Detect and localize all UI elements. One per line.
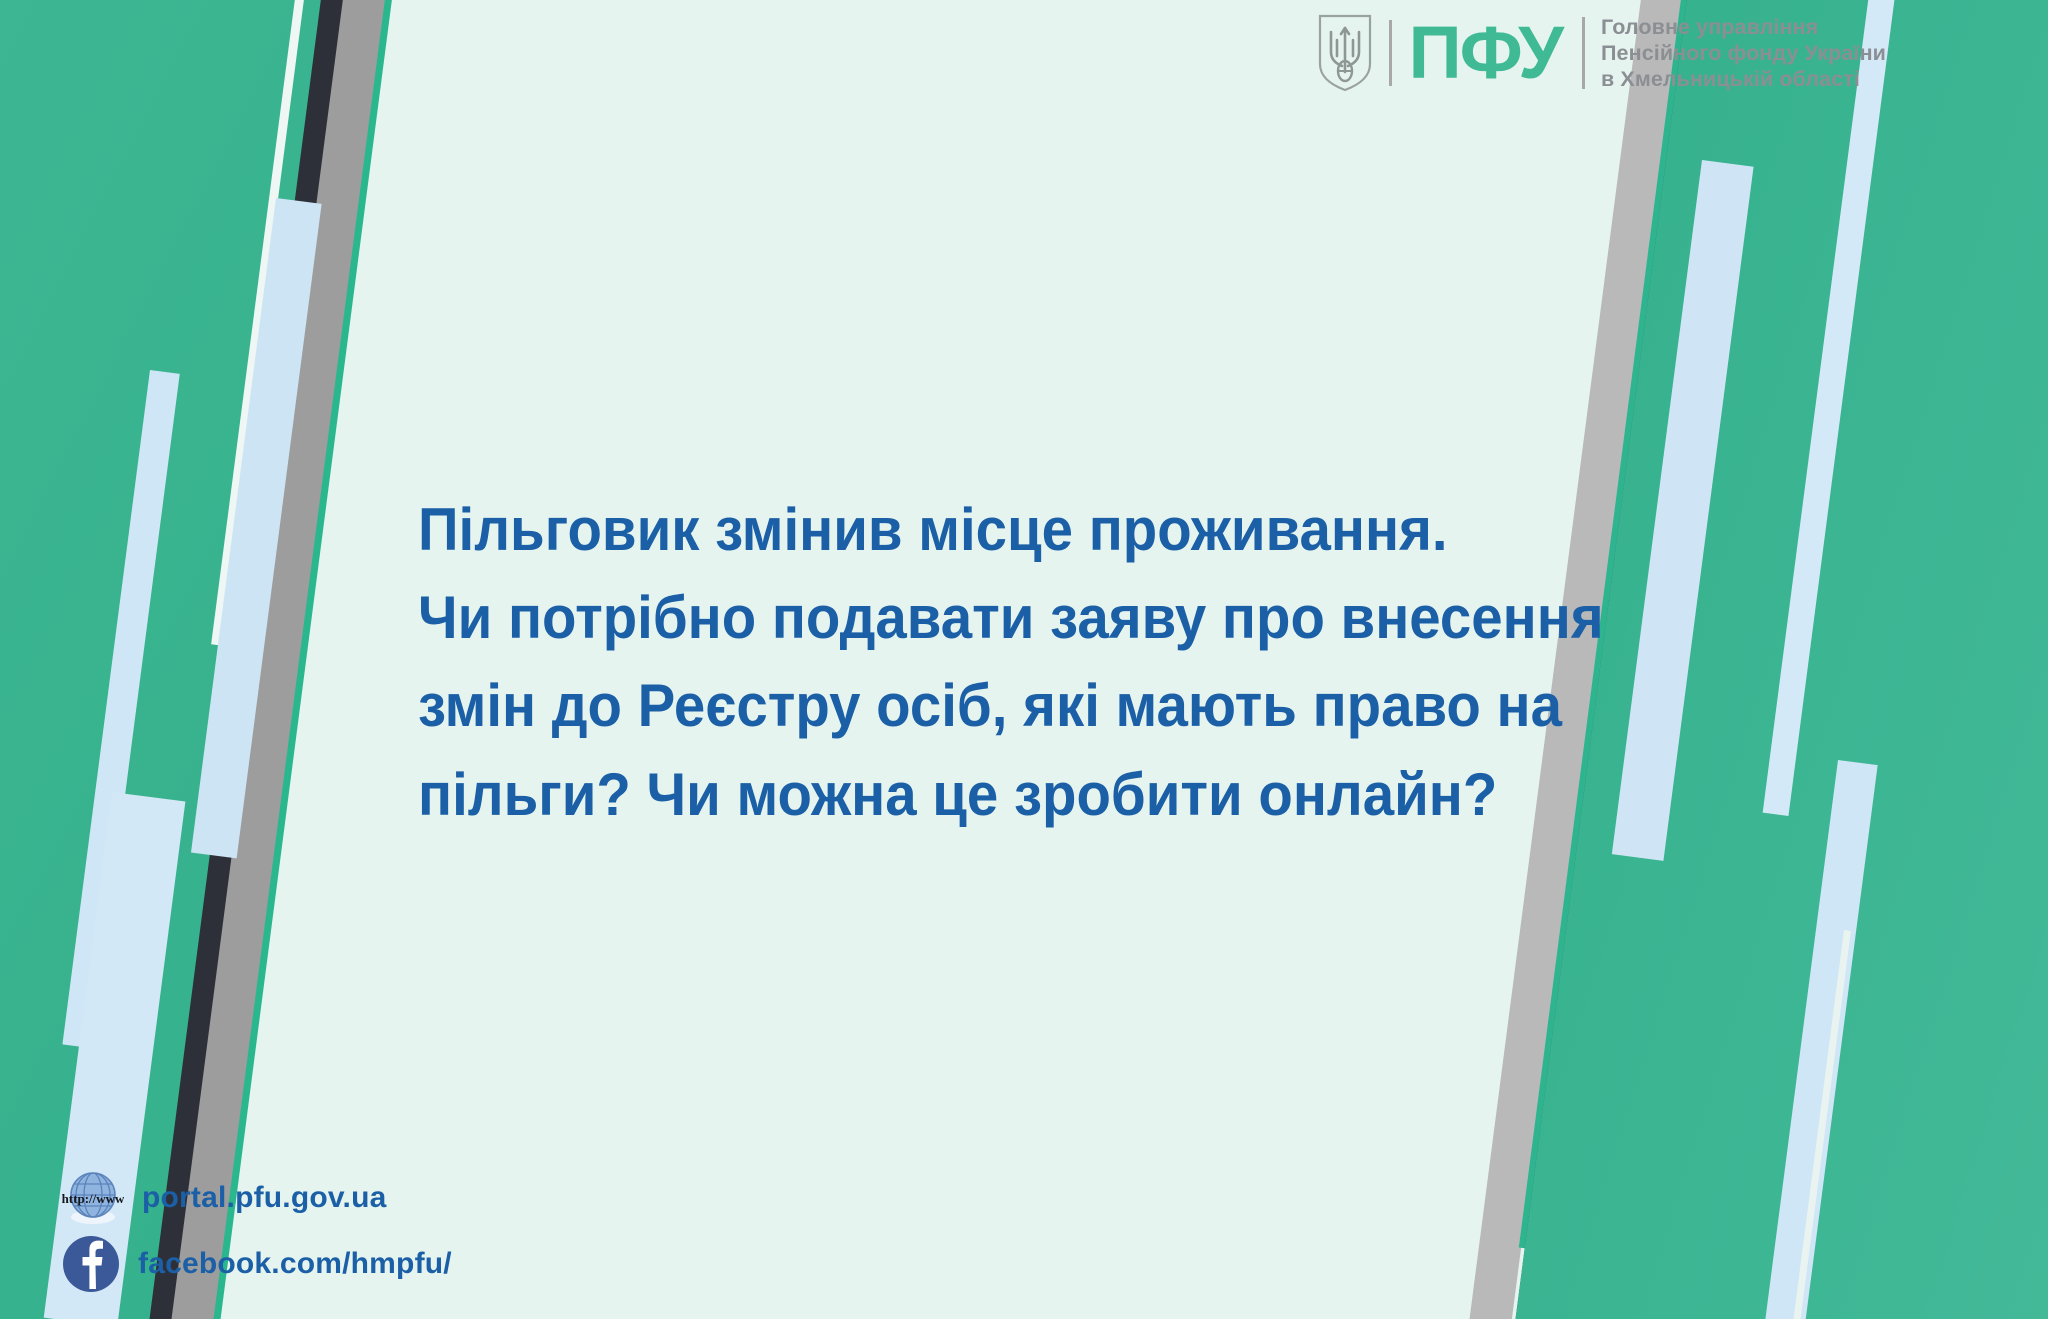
svg-text:http://www: http://www bbox=[62, 1191, 124, 1206]
logo-divider-right bbox=[1582, 17, 1585, 89]
ukraine-trident-icon bbox=[1317, 14, 1373, 92]
org-line-3: в Хмельницькій області bbox=[1601, 66, 1886, 92]
pfu-logo-lockup: ПФУ Головне управління Пенсійного фонду … bbox=[1317, 14, 1886, 93]
org-line-2: Пенсійного фонду України bbox=[1601, 40, 1886, 66]
question-line-4: пільги? Чи можна це зробити онлайн? bbox=[418, 751, 1608, 839]
facebook-icon bbox=[62, 1235, 120, 1293]
org-line-1: Головне управління bbox=[1601, 14, 1886, 40]
question-line-2: Чи потрібно подавати заяву про внесення bbox=[418, 574, 1608, 662]
question-line-1: Пільговик змінив місце проживання. bbox=[418, 486, 1608, 574]
portal-link-row[interactable]: http://www portal.pfu.gov.ua bbox=[62, 1165, 452, 1231]
portal-link-label: portal.pfu.gov.ua bbox=[142, 1181, 387, 1215]
globe-www-icon: http://www bbox=[62, 1167, 124, 1229]
facebook-link-label: facebook.com/hmpfu/ bbox=[138, 1247, 452, 1281]
question-text-block: Пільговик змінив місце проживання. Чи по… bbox=[418, 486, 1608, 839]
pfu-brand-mark: ПФУ bbox=[1408, 19, 1562, 87]
slide-canvas: ПФУ Головне управління Пенсійного фонду … bbox=[0, 0, 2048, 1319]
logo-divider-left bbox=[1389, 20, 1392, 86]
question-line-3: змін до Реєстру осіб, які мають право на bbox=[418, 662, 1608, 750]
organization-name: Головне управління Пенсійного фонду Укра… bbox=[1601, 14, 1886, 93]
footer-links: http://www portal.pfu.gov.ua facebook.co… bbox=[62, 1165, 452, 1297]
facebook-link-row[interactable]: facebook.com/hmpfu/ bbox=[62, 1231, 452, 1297]
